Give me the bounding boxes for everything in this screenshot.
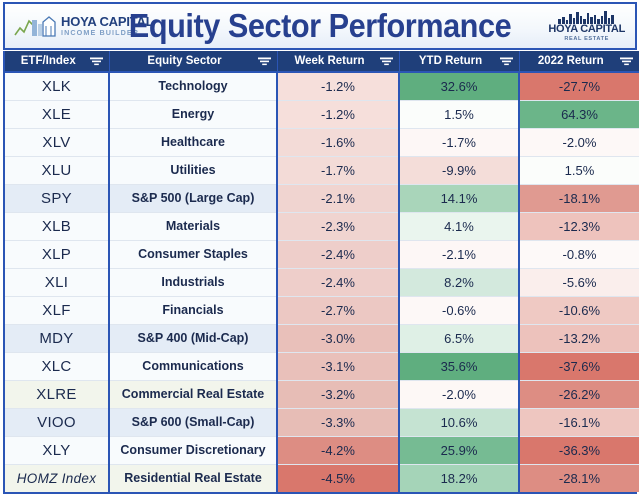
cell-ytd-return: 1.5% [399,100,519,128]
cell-ticker: SPY [5,184,109,212]
cell-2022-return: -0.8% [519,240,639,268]
cell-ticker: VIOO [5,408,109,436]
cell-ytd-return: 35.6% [399,352,519,380]
cell-2022-return: -26.2% [519,380,639,408]
cell-week-return: -2.3% [277,212,399,240]
cell-sector: Consumer Staples [109,240,277,268]
column-header-etf-index[interactable]: ETF/Index [5,51,109,72]
cell-week-return: -3.3% [277,408,399,436]
cell-sector: Energy [109,100,277,128]
cell-2022-return: -36.3% [519,436,639,464]
cell-ytd-return: 25.9% [399,436,519,464]
cell-ytd-return: 6.5% [399,324,519,352]
cell-ticker: XLU [5,156,109,184]
cell-2022-return: -12.3% [519,212,639,240]
cell-sector: Consumer Discretionary [109,436,277,464]
cell-ytd-return: 18.2% [399,464,519,492]
header-row: ETF/IndexEquity SectorWeek ReturnYTD Ret… [5,51,639,72]
column-header-label: YTD Return [406,55,496,67]
cell-2022-return: -37.6% [519,352,639,380]
cell-week-return: -2.4% [277,268,399,296]
cell-sector: Technology [109,72,277,100]
table-row[interactable]: XLFFinancials-2.7%-0.6%-10.6% [5,296,639,324]
column-header-label: 2022 Return [526,55,617,67]
cell-ticker: XLRE [5,380,109,408]
cell-sector: Residential Real Estate [109,464,277,492]
cell-sector: Financials [109,296,277,324]
cell-sector: Industrials [109,268,277,296]
cell-ticker: XLI [5,268,109,296]
logo-hoya-capital-income-builder: HOYA CAPITAL INCOME BUILDER [5,7,153,45]
cell-2022-return: -28.1% [519,464,639,492]
chart-building-icon [13,11,57,41]
cell-ticker: XLC [5,352,109,380]
cell-ytd-return: 14.1% [399,184,519,212]
cell-ticker: XLY [5,436,109,464]
header-banner: HOYA CAPITAL INCOME BUILDER Equity Secto… [3,2,637,50]
table-row[interactable]: XLYConsumer Discretionary-4.2%25.9%-36.3… [5,436,639,464]
column-header-week-return[interactable]: Week Return [277,51,399,72]
cell-week-return: -4.2% [277,436,399,464]
filter-icon[interactable] [380,56,393,66]
cell-2022-return: -5.6% [519,268,639,296]
column-header-label: ETF/Index [11,55,86,67]
cell-sector: S&P 600 (Small-Cap) [109,408,277,436]
logo-hoya-capital-real-estate: HOYA CAPITAL REAL ESTATE [548,5,635,47]
column-header-label: Week Return [284,55,376,67]
column-header-2022-return[interactable]: 2022 Return [519,51,639,72]
logo-right-tagline: REAL ESTATE [564,36,609,42]
table-row[interactable]: XLVHealthcare-1.6%-1.7%-2.0% [5,128,639,156]
filter-icon[interactable] [258,56,271,66]
table-row[interactable]: XLUUtilities-1.7%-9.9%1.5% [5,156,639,184]
table-body: XLKTechnology-1.2%32.6%-27.7%XLEEnergy-1… [5,72,639,492]
cell-2022-return: -13.2% [519,324,639,352]
cell-2022-return: 1.5% [519,156,639,184]
cell-ytd-return: -1.7% [399,128,519,156]
cell-ytd-return: -2.1% [399,240,519,268]
cell-week-return: -1.2% [277,100,399,128]
cell-2022-return: -10.6% [519,296,639,324]
cell-sector: S&P 500 (Large Cap) [109,184,277,212]
column-header-ytd-return[interactable]: YTD Return [399,51,519,72]
cell-2022-return: -16.1% [519,408,639,436]
column-header-label: Equity Sector [116,55,254,67]
filter-icon[interactable] [500,56,513,66]
filter-icon[interactable] [90,56,103,66]
logo-left-name: HOYA CAPITAL [61,15,153,28]
cell-ticker: XLE [5,100,109,128]
screenshot-root: HOYA CAPITAL INCOME BUILDER Equity Secto… [0,2,640,499]
cell-ytd-return: 8.2% [399,268,519,296]
cell-ticker: XLK [5,72,109,100]
table-row[interactable]: XLEEnergy-1.2%1.5%64.3% [5,100,639,128]
cell-2022-return: -2.0% [519,128,639,156]
cell-ytd-return: 4.1% [399,212,519,240]
table-row[interactable]: XLKTechnology-1.2%32.6%-27.7% [5,72,639,100]
cell-ticker: XLP [5,240,109,268]
cell-2022-return: 64.3% [519,100,639,128]
table-row[interactable]: HOMZ IndexResidential Real Estate-4.5%18… [5,464,639,492]
cell-ytd-return: 32.6% [399,72,519,100]
table-row[interactable]: XLBMaterials-2.3%4.1%-12.3% [5,212,639,240]
cell-sector: S&P 400 (Mid-Cap) [109,324,277,352]
logo-left-tagline: INCOME BUILDER [61,29,153,36]
cell-ytd-return: -2.0% [399,380,519,408]
cell-week-return: -3.2% [277,380,399,408]
table-row[interactable]: MDYS&P 400 (Mid-Cap)-3.0%6.5%-13.2% [5,324,639,352]
table-row[interactable]: VIOOS&P 600 (Small-Cap)-3.3%10.6%-16.1% [5,408,639,436]
filter-icon[interactable] [620,56,633,66]
table-row[interactable]: XLCCommunications-3.1%35.6%-37.6% [5,352,639,380]
cell-week-return: -3.1% [277,352,399,380]
cell-week-return: -1.7% [277,156,399,184]
cell-ticker: MDY [5,324,109,352]
cell-2022-return: -27.7% [519,72,639,100]
equity-sector-performance-table: ETF/IndexEquity SectorWeek ReturnYTD Ret… [5,51,639,492]
cell-sector: Healthcare [109,128,277,156]
table-header: ETF/IndexEquity SectorWeek ReturnYTD Ret… [5,51,639,72]
cell-ytd-return: -0.6% [399,296,519,324]
cell-week-return: -2.1% [277,184,399,212]
city-skyline-icon [558,10,616,24]
cell-week-return: -2.4% [277,240,399,268]
column-header-equity-sector[interactable]: Equity Sector [109,51,277,72]
table-row[interactable]: XLIIndustrials-2.4%8.2%-5.6% [5,268,639,296]
performance-table-container: ETF/IndexEquity SectorWeek ReturnYTD Ret… [3,51,637,494]
cell-week-return: -1.6% [277,128,399,156]
cell-week-return: -1.2% [277,72,399,100]
table-row[interactable]: SPYS&P 500 (Large Cap)-2.1%14.1%-18.1% [5,184,639,212]
cell-ticker: XLF [5,296,109,324]
cell-ytd-return: -9.9% [399,156,519,184]
cell-week-return: -3.0% [277,324,399,352]
cell-week-return: -2.7% [277,296,399,324]
cell-sector: Utilities [109,156,277,184]
table-row[interactable]: XLPConsumer Staples-2.4%-2.1%-0.8% [5,240,639,268]
cell-sector: Communications [109,352,277,380]
cell-ticker: XLB [5,212,109,240]
cell-sector: Materials [109,212,277,240]
table-row[interactable]: XLRECommercial Real Estate-3.2%-2.0%-26.… [5,380,639,408]
cell-ticker: HOMZ Index [5,464,109,492]
cell-week-return: -4.5% [277,464,399,492]
cell-ytd-return: 10.6% [399,408,519,436]
cell-2022-return: -18.1% [519,184,639,212]
cell-ticker: XLV [5,128,109,156]
logo-right-name: HOYA CAPITAL [548,24,625,36]
cell-sector: Commercial Real Estate [109,380,277,408]
